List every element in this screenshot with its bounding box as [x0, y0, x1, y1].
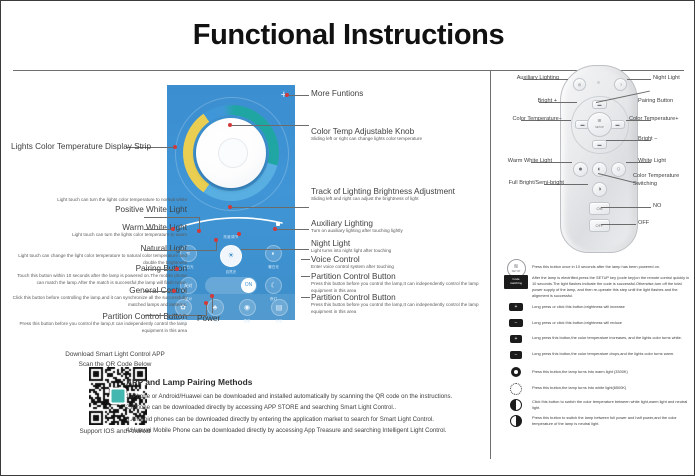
callout-dot-warm-white [171, 227, 175, 231]
callout-title: Partition Control Button [311, 272, 481, 281]
legend-text: After the lamp is electrified,press the … [532, 275, 692, 299]
remote-btn-full-half-bright[interactable]: ◑ [592, 182, 607, 197]
callout-color-temp-knob: Color Temp Adjustable Knob Sliding left … [311, 127, 481, 143]
callout-dot-general [172, 289, 176, 293]
full-half-bright-icon [504, 415, 528, 427]
callout-sub: Sliding left and right can adjust the br… [311, 196, 481, 203]
leader-positive-white [144, 217, 199, 218]
callout-sub: Turn on auxiliary lighting after touchin… [311, 228, 481, 235]
callout-sub: Click this button before controlling the… [9, 295, 187, 308]
callout-title: Voice Control [311, 255, 481, 264]
callout-title: Power [197, 314, 220, 323]
callout-title: Positive White Light [9, 205, 187, 214]
callout-more-functions: More Funtions [311, 89, 363, 98]
pairing-item: 4.Huawei Mobile Phone can be downloaded … [126, 425, 481, 436]
setup-text: SETUP [595, 125, 604, 130]
legend-text: Long press this button,the color tempera… [532, 335, 692, 341]
off-text: OFF [590, 220, 609, 231]
btn-caption: 语音 [232, 318, 262, 323]
icon-glyph: ◐ [266, 250, 281, 257]
leader-night-light [241, 249, 309, 250]
callout-partition-right-1: Partition Control Button Press this butt… [311, 272, 481, 294]
remote-label-full-bright-semi-bright: Full Bright/Semi-bright [494, 180, 564, 188]
remote-btn-colortemp-up[interactable]: ▬ [610, 120, 625, 129]
qr-center-logo [110, 388, 127, 405]
legend-row: Press this button,the lamp turns into wh… [504, 383, 692, 395]
callout-auxiliary-lighting: Auxiliary Lighting Turn on auxiliary lig… [311, 219, 481, 235]
legend-row: Press this button,the lamp turns into wa… [504, 367, 692, 379]
callout-title: Partition Control Button [9, 312, 187, 321]
callout-sub: Touch this button within 10 seconds afte… [9, 273, 187, 286]
brightness-track[interactable] [178, 213, 284, 229]
leader-power [212, 297, 213, 313]
callout-title: Lights Color Temperature Display Strip [11, 142, 126, 151]
power-toggle[interactable]: ON [205, 277, 257, 294]
callout-sub: Enter voice control system after touchin… [311, 264, 481, 271]
power-glyph: ON [241, 282, 256, 288]
vertical-divider [490, 71, 491, 459]
callout-dot-night-light [237, 232, 241, 236]
callout-sub: Sliding left or right can change lights … [311, 136, 481, 143]
leader-off [601, 224, 636, 225]
remote-btn-warm-white-light[interactable]: ● [573, 162, 588, 177]
icon-glyph: ◉ [240, 304, 255, 311]
callout-dot-power [210, 294, 214, 298]
callout-brightness-track: Track of Lighting Brightness Adjustment … [311, 187, 481, 203]
legend-row: − Long press or click this button,bright… [504, 319, 692, 331]
pairing-item: 1.iPhone or Android/Huawei can be downlo… [126, 391, 481, 402]
callout-dot-natural [214, 238, 218, 242]
legend-text: Long press or click this button,brightne… [532, 303, 692, 310]
callout-sub: Press this button before you control the… [311, 302, 481, 315]
legend-text: Long press or click this button,brightne… [532, 319, 692, 326]
legend-text: Click this button to switch the color te… [532, 399, 692, 411]
leader-more-functions [289, 95, 309, 96]
remote-btn-auxiliary-lighting[interactable]: ◎ [573, 78, 586, 91]
remote-label-color-temperature-up: Color Temperature+ [629, 116, 679, 124]
brightness-track-handle[interactable] [276, 222, 280, 226]
remote-label-pairing-button: Pairing Button [638, 98, 673, 106]
callout-night-light: Night Light Light turns into night light… [311, 239, 481, 255]
pairing-item: 2.iPhone can be downloaded directly by a… [126, 402, 481, 413]
legend-row: Press this button to switch the lamp bet… [504, 415, 692, 427]
callout-sub: Light turns into night light after touch… [311, 248, 481, 255]
callout-sub: Light touch can turn the lights color te… [9, 232, 187, 239]
colortemp-down-icon: − [504, 351, 528, 359]
remote-label-no: NO [653, 203, 661, 211]
callout-title: More Funtions [311, 89, 363, 98]
leader-brightness [232, 207, 309, 208]
leader-voice [301, 259, 310, 260]
callout-title: Partition Control Button [311, 293, 481, 302]
callout-positive-white: Light touch can turn the lights color te… [9, 197, 187, 214]
remote-label-night-light: Night Light [653, 75, 680, 83]
legend-text: Press this button once in 10 seconds aft… [532, 259, 692, 270]
warm-light-icon [504, 367, 528, 377]
legend-row: ≋SETUP Press this button once in 10 seco… [504, 259, 692, 271]
leader-auxiliary [277, 229, 309, 230]
callout-natural-light: Natural Light Light touch can change the… [9, 244, 187, 266]
callout-pairing-button: Pairing Button Touch this button within … [9, 264, 187, 286]
leader-general-control [144, 291, 172, 292]
remote-label-auxiliary-lighting: Auxiliary Lighting [497, 75, 559, 83]
bright-down-icon: − [504, 319, 528, 327]
leader-knob [232, 125, 309, 126]
leader-natural-v [216, 241, 217, 251]
phone-btn-partition-2[interactable]: ▤ 分区 [264, 299, 294, 323]
callout-title: Color Temp Adjustable Knob [311, 127, 481, 136]
remote-label-bright-down: Bright − [638, 136, 657, 144]
color-temp-knob[interactable] [183, 105, 279, 201]
legend-row: Code matching After the lamp is electrif… [504, 275, 692, 299]
pairing-methods: APP and Lamp Pairing Methods 1.iPhone or… [126, 377, 481, 436]
legend-list: ≋SETUP Press this button once in 10 seco… [504, 259, 692, 431]
callout-dot-partition-left [204, 301, 208, 305]
leader-no [601, 207, 651, 208]
legend-text: Press this button,the lamp turns into wh… [532, 383, 692, 391]
leader-natural-light [144, 250, 216, 251]
knob-inner-circle [218, 138, 248, 168]
remote-label-bright-up: Bright + [501, 98, 557, 106]
remote-label-white-light: White Light [638, 158, 666, 166]
phone-btn-voice-control[interactable]: ◉ 语音 [232, 299, 262, 323]
callout-sub: Press this button before you control the… [9, 321, 187, 334]
callout-title: Natural Light [9, 244, 187, 253]
on-text: ON [590, 203, 609, 214]
icon-glyph: ▤ [272, 304, 287, 311]
remote-label-color-temperature-switching: Color Temperature Switching [633, 173, 693, 188]
callout-dot-pairing [175, 267, 179, 271]
btn-caption: 分区 [264, 318, 294, 323]
btn-caption: 暖白光 [259, 264, 289, 269]
callout-general-control: General Control Click this button before… [9, 286, 187, 308]
leader-night-light [627, 79, 651, 80]
remote-btn-on[interactable]: ON [589, 202, 610, 215]
pairing-heading: APP and Lamp Pairing Methods [126, 377, 481, 387]
callout-partition-right-2: Partition Control Button Press this butt… [311, 293, 481, 315]
callout-sub: Light touch can turn the lights color te… [9, 197, 187, 204]
knob-face[interactable] [196, 118, 266, 188]
legend-text: Long press this button,the color tempera… [532, 351, 692, 357]
legend-row: + Long press this button,the color tempe… [504, 335, 692, 347]
leader-partition-r1 [301, 276, 310, 277]
legend-text: Press this button,the lamp turns into wa… [532, 367, 692, 375]
code-matching-icon: Code matching [504, 275, 528, 289]
colortemp-up-icon: + [504, 335, 528, 343]
legend-row: − Long press this button,the color tempe… [504, 351, 692, 363]
bright-up-icon: + [504, 303, 528, 311]
leader-warm-white [144, 229, 171, 230]
btn-caption: 自然光 [216, 269, 246, 274]
leader-partition-r2 [301, 297, 310, 298]
remote-label-warm-white-light: Warm White Light [494, 158, 552, 166]
white-light-icon [504, 383, 528, 395]
callout-dot-positive-white [197, 229, 201, 233]
callout-warm-white: Warm White Light Light touch can turn th… [9, 223, 187, 239]
callout-title: Warm White Light [9, 223, 187, 232]
callout-title: Night Light [311, 239, 481, 248]
icon-glyph: ☾ [266, 282, 281, 289]
page-title: Functional Instructions [1, 19, 695, 52]
download-line-1: Download Smart Light Control APP [17, 350, 213, 360]
legend-row: Click this button to switch the color te… [504, 399, 692, 411]
callout-voice-control: Voice Control Enter voice control system… [311, 255, 481, 271]
remote-label-off: OFF [638, 220, 649, 228]
remote-btn-off[interactable]: OFF [589, 219, 610, 232]
remote-btn-pairing-setup[interactable]: ≋SETUP [587, 112, 612, 137]
colortemp-switch-icon [504, 399, 528, 411]
icon-glyph: ♣ [208, 304, 223, 311]
legend-text: Press this button to switch the lamp bet… [532, 415, 692, 427]
instruction-sheet: Functional Instructions + 亮度调节 ≈ 正白光 [0, 0, 695, 476]
remote-btn-night-light[interactable]: ☽ [614, 78, 627, 91]
legend-row: + Long press or click this button,bright… [504, 303, 692, 315]
remote-btn-bright-down[interactable]: ▬ [592, 140, 607, 149]
pairing-item: 3.Android phones can be downloaded direc… [126, 414, 481, 425]
remote-label-color-temperature-down: Color Temperature− [494, 116, 562, 124]
icon-glyph: ☀ [221, 253, 241, 260]
callout-title: Track of Lighting Brightness Adjustment [311, 187, 481, 196]
callout-color-temp-strip: Lights Color Temperature Display Strip [11, 142, 126, 151]
callout-title: Auxiliary Lighting [311, 219, 481, 228]
leader-pairing [144, 269, 175, 270]
remote-led-indicator [597, 81, 600, 84]
remote-btn-white-light[interactable]: ○ [611, 162, 626, 177]
power-label: Power [197, 314, 220, 323]
